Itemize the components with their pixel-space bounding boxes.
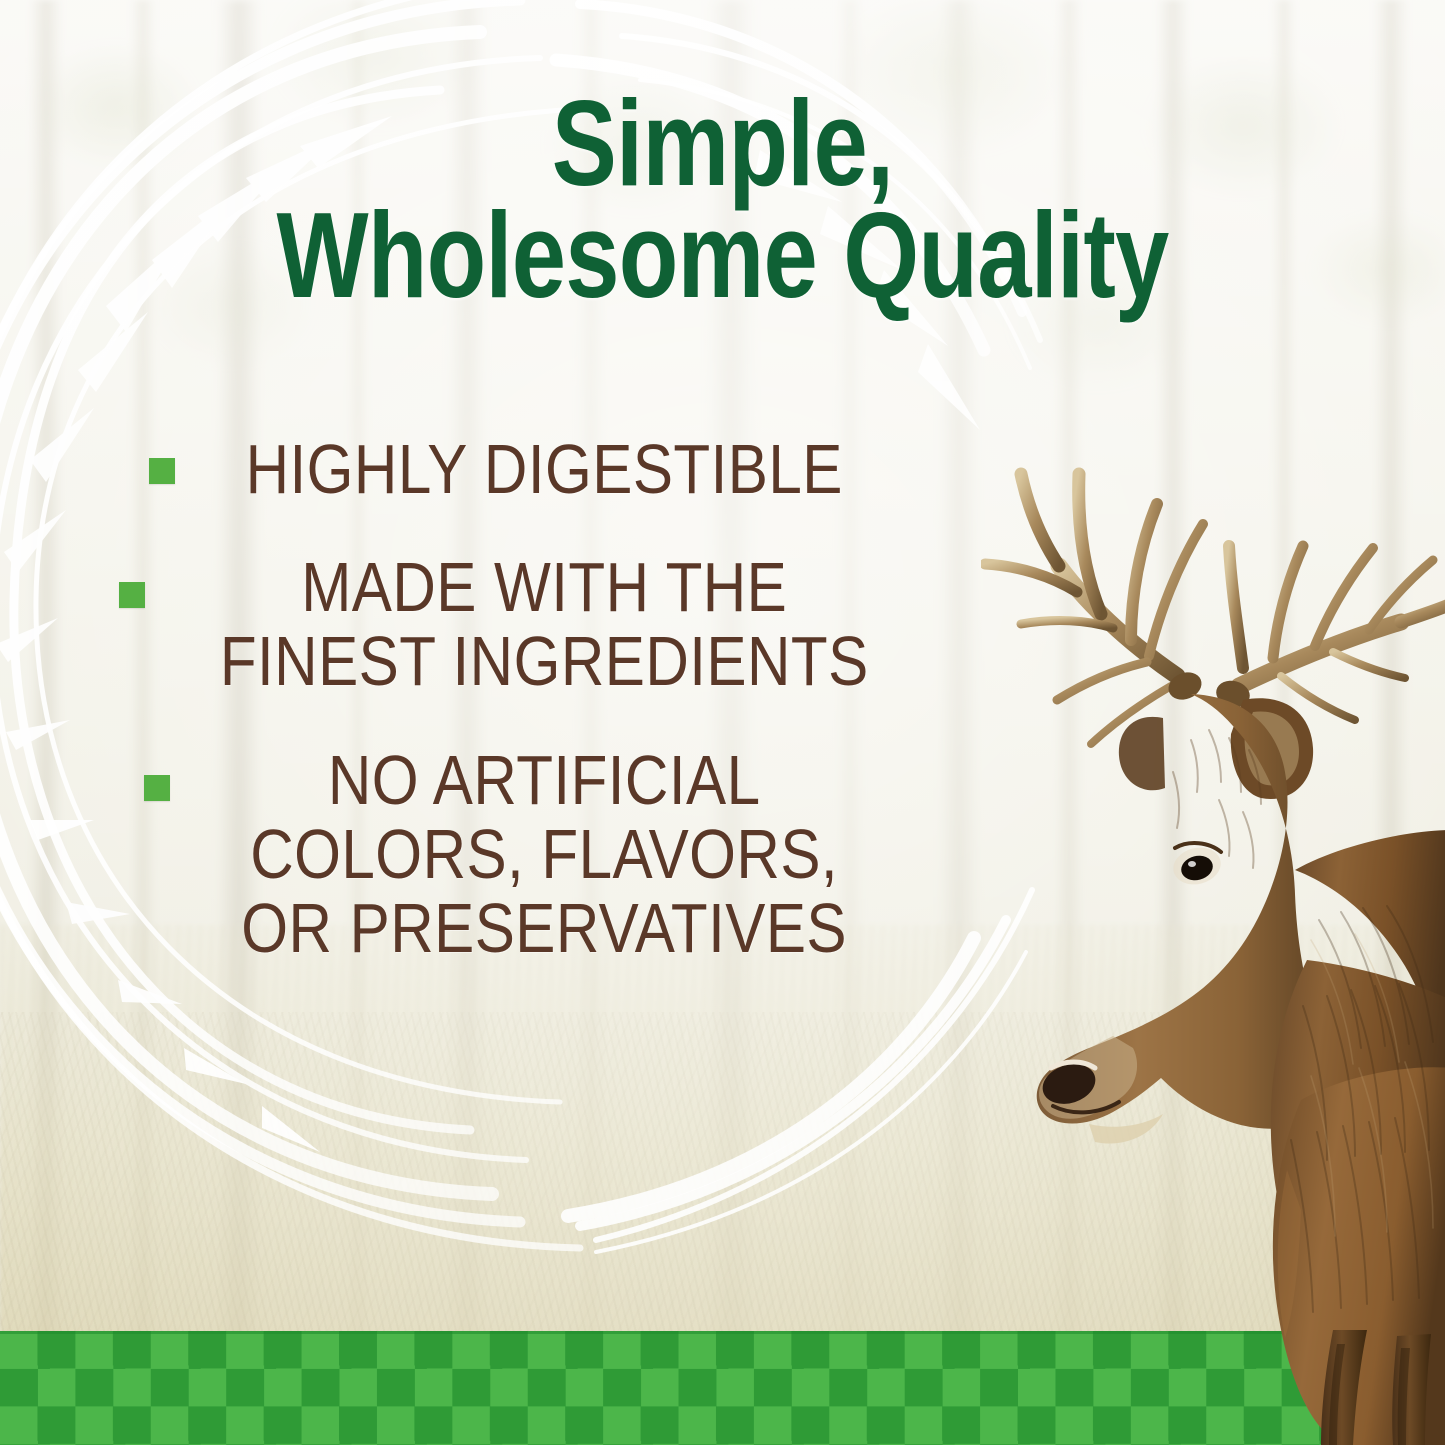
headline-line-2: Wholesome Quality <box>145 196 1301 316</box>
list-item: NO ARTIFICIAL COLORS, FLAVORS, OR PRESER… <box>20 743 1020 966</box>
green-square-bullet-icon <box>149 458 175 484</box>
list-item: HIGHLY DIGESTIBLE <box>20 432 1020 506</box>
bullet-text: NO ARTIFICIAL COLORS, FLAVORS, OR PRESER… <box>241 743 847 966</box>
list-item: MADE WITH THE FINEST INGREDIENTS <box>20 550 1020 698</box>
product-feature-banner: Simple, Wholesome Quality HIGHLY DIGESTI… <box>0 0 1445 1445</box>
headline: Simple, Wholesome Quality <box>0 84 1445 315</box>
feature-bullet-list: HIGHLY DIGESTIBLE MADE WITH THE FINEST I… <box>20 432 1020 965</box>
green-square-bullet-icon <box>119 582 145 608</box>
bullet-text: MADE WITH THE FINEST INGREDIENTS <box>220 550 869 698</box>
red-deer-stag-image <box>981 400 1445 1445</box>
green-square-bullet-icon <box>144 775 170 801</box>
bullet-text: HIGHLY DIGESTIBLE <box>245 432 842 506</box>
